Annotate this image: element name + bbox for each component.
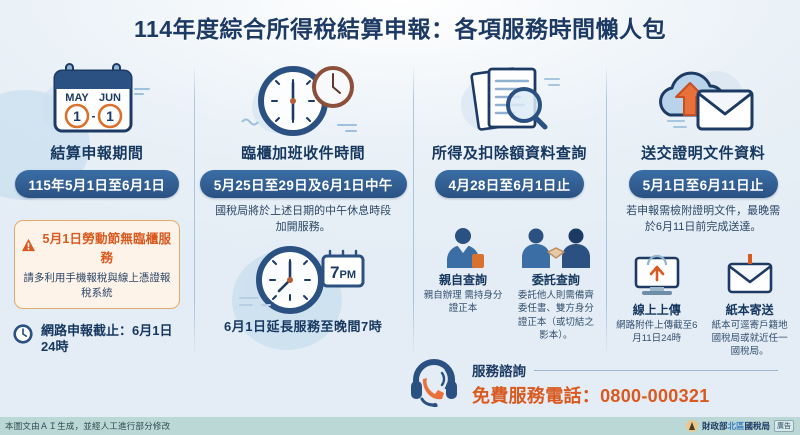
- column-note: 若申報需檢附證明文件，最晚需於6月11日前完成送達。: [622, 204, 784, 236]
- calendar-icon: MAY JUN 1 1 -: [6, 58, 188, 140]
- column-title: 所得及扣除額資料查詢: [419, 142, 601, 163]
- warning-headline: 5月1日勞動節無臨櫃服務: [41, 228, 173, 266]
- online-deadline-text: 網路申報截止：6月1日24時: [41, 323, 182, 356]
- svg-text:1: 1: [73, 108, 81, 124]
- query-method-note: 親自辦理 需持身分證正本: [421, 289, 506, 316]
- overtime-sub-caption: 6月1日延長服務至晚間7時: [200, 316, 407, 335]
- svg-text:-: -: [91, 109, 95, 123]
- org-name: 財政部北區國稅局: [702, 420, 770, 432]
- submit-method-title: 線上上傳: [614, 301, 699, 318]
- submit-method-title: 紙本寄送: [707, 301, 792, 318]
- submit-method-online: 線上上傳 網路附件上傳截至6月11日24時: [612, 254, 701, 359]
- column-note: 國稅局將於上述日期的中午休息時段加開服務。: [210, 204, 397, 236]
- divider-rule: [534, 370, 778, 371]
- query-method-note: 委託他人則需備齊委任書、雙方身分證正本（或切結之影本）。: [513, 289, 598, 342]
- service-consultation: 服務諮詢 免費服務電話：0800-000321: [408, 358, 778, 410]
- clock-7pm-icon: 7PM: [200, 240, 407, 316]
- documents-magnifier-icon: [419, 58, 601, 140]
- svg-text:MAY: MAY: [65, 92, 89, 104]
- clock-stopwatch-icon: [200, 58, 407, 140]
- cloud-upload-mail-icon: [612, 58, 794, 140]
- column-counter-overtime: 臨櫃加班收件時間 5月25日至29日及6月1日中午 國稅局將於上述日期的中午休息…: [194, 58, 413, 410]
- column-date-pill: 4月28日至6月1日止: [435, 170, 585, 198]
- column-date-pill: 5月1日至6月11日止: [629, 170, 778, 198]
- submit-method-mail: 紙本寄送 紙本可逕寄戶籍地國稅局或就近任一國稅局。: [705, 254, 794, 359]
- column-title: 臨櫃加班收件時間: [200, 142, 407, 163]
- org-logo-icon: [686, 420, 698, 432]
- warning-triangle-icon: [21, 238, 36, 257]
- query-method-in-person: 親自查詢 親自辦理 需持身分證正本: [419, 224, 508, 342]
- ai-disclaimer: 本圖文由ＡＩ生成，並經人工進行部分修改: [0, 420, 170, 432]
- query-method-title: 委託查詢: [513, 271, 598, 288]
- query-methods: 親自查詢 親自辦理 需持身分證正本 委託查詢 委託他人則需: [419, 224, 601, 342]
- labor-day-warning: 5月1日勞動節無臨櫃服務 請多利用手機報稅與線上憑證報稅系統: [14, 220, 180, 309]
- ad-badge: 廣告: [774, 420, 794, 432]
- submit-method-note: 紙本可逕寄戶籍地國稅局或就近任一國稅局。: [707, 319, 792, 359]
- footer-org: 財政部北區國稅局 廣告: [686, 420, 800, 432]
- submit-method-note: 網路附件上傳截至6月11日24時: [614, 319, 699, 346]
- column-date-pill: 115年5月1日至6月1日: [15, 170, 180, 198]
- column-date-pill: 5月25日至29日及6月1日中午: [200, 170, 407, 198]
- query-method-delegate: 委託查詢 委託他人則需備齊委任書、雙方身分證正本（或切結之影本）。: [511, 224, 600, 342]
- submit-methods: 線上上傳 網路附件上傳截至6月11日24時 紙本寄送 紙本可逕寄戶籍地國稅局或就…: [612, 254, 794, 359]
- mailbox-icon: [707, 254, 792, 298]
- person-icon: [421, 224, 506, 268]
- headset-phone-icon: [408, 357, 460, 412]
- online-deadline: 網路申報截止：6月1日24時: [12, 323, 182, 356]
- column-title: 結算申報期間: [6, 142, 188, 163]
- svg-text:1: 1: [106, 108, 114, 124]
- column-filing-period: MAY JUN 1 1 - 結算申報期間 115年5月1日至6月1日: [0, 58, 194, 410]
- service-phone: 免費服務電話：0800-000321: [472, 382, 778, 408]
- handshake-icon: [513, 224, 598, 268]
- clock-icon: [12, 323, 34, 350]
- svg-text:JUN: JUN: [99, 92, 121, 104]
- footer-bar: 本圖文由ＡＩ生成，並經人工進行部分修改 財政部北區國稅局 廣告: [0, 417, 800, 435]
- infographic-page: 114年度綜合所得稅結算申報：各項服務時間懶人包 MAY JUN 1 1 -: [0, 0, 800, 435]
- page-title: 114年度綜合所得稅結算申報：各項服務時間懶人包: [0, 10, 800, 44]
- monitor-upload-icon: [614, 254, 699, 298]
- service-label: 服務諮詢: [472, 360, 526, 380]
- warning-sub: 請多利用手機報稅與線上憑證報稅系統: [21, 270, 173, 300]
- column-title: 送交證明文件資料: [612, 142, 794, 163]
- query-method-title: 親自查詢: [421, 271, 506, 288]
